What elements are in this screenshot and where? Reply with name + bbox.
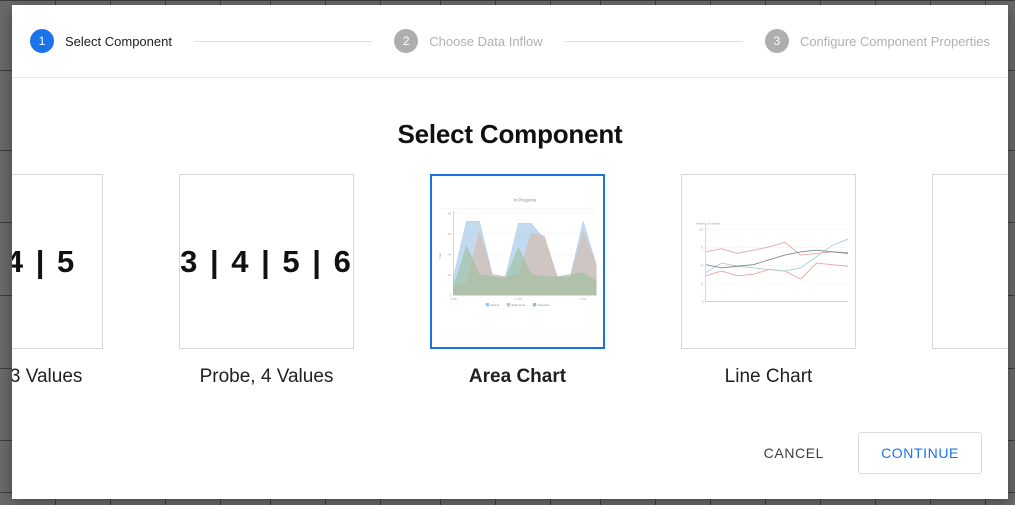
stepper-step-3[interactable]: 3 Configure Component Properties xyxy=(765,29,990,53)
probe-values-text: 3 | 4 | 5 xyxy=(12,175,102,348)
card-label: Probe, 4 Values xyxy=(179,366,354,388)
page-title: Select Component xyxy=(12,119,1008,150)
card-label: Probe, 3 Values xyxy=(12,366,103,388)
cancel-button[interactable]: CANCEL xyxy=(752,436,836,470)
wizard-stepper: 1 Select Component 2 Choose Data Inflow … xyxy=(12,5,1008,78)
stepper-step-2[interactable]: 2 Choose Data Inflow xyxy=(394,29,542,53)
component-card-next[interactable] xyxy=(932,174,1008,366)
component-carousel: 3 | 4 | 5 Probe, 3 Values 3 | 4 | 5 | 6 … xyxy=(12,174,1008,389)
svg-text:0: 0 xyxy=(450,294,452,297)
stepper-step-1[interactable]: 1 Select Component xyxy=(30,29,172,53)
component-card-probe-4-values[interactable]: 3 | 4 | 5 | 6 Probe, 4 Values xyxy=(179,174,354,388)
card-thumbnail[interactable]: Orders Completed0255075100 xyxy=(681,174,856,349)
svg-text:80: 80 xyxy=(448,212,451,215)
card-thumbnail[interactable] xyxy=(932,174,1008,349)
svg-text:Total: Total xyxy=(438,253,442,259)
step-1-number: 1 xyxy=(30,29,54,53)
step-3-number: 3 xyxy=(765,29,789,53)
card-thumbnail[interactable]: 3 | 4 | 5 | 6 xyxy=(179,174,354,349)
card-label: Area Chart xyxy=(430,366,605,388)
svg-text:20: 20 xyxy=(448,274,451,277)
probe-values-text: 3 | 4 | 5 | 6 xyxy=(180,175,353,348)
step-3-label: Configure Component Properties xyxy=(800,34,990,49)
card-thumbnail[interactable]: In Progress020406080Total17:0017:2517:50… xyxy=(430,174,605,349)
modal-body: Select Component 3 | 4 | 5 Probe, 3 Valu… xyxy=(12,78,1008,499)
svg-text:75: 75 xyxy=(701,247,704,250)
svg-text:Transfers: Transfers xyxy=(537,303,550,307)
component-card-probe-3-values[interactable]: 3 | 4 | 5 Probe, 3 Values xyxy=(12,174,103,388)
svg-text:17:00: 17:00 xyxy=(450,298,457,301)
modal-footer: CANCEL CONTINUE xyxy=(12,407,1008,499)
svg-text:60: 60 xyxy=(448,233,451,236)
stepper-connector-1 xyxy=(194,41,372,42)
card-label: Line Chart xyxy=(681,366,856,388)
svg-text:40: 40 xyxy=(448,253,451,256)
stepper-connector-2 xyxy=(565,41,743,42)
continue-button[interactable]: CONTINUE xyxy=(858,432,982,474)
svg-text:17:25: 17:25 xyxy=(515,298,522,301)
svg-text:Orders: Orders xyxy=(490,303,499,307)
step-2-label: Choose Data Inflow xyxy=(429,34,542,49)
svg-text:25: 25 xyxy=(701,283,704,286)
svg-text:In Progress: In Progress xyxy=(513,197,537,202)
area-chart-thumbnail-icon: In Progress020406080Total17:0017:2517:50… xyxy=(432,176,603,347)
carousel-track: 3 | 4 | 5 Probe, 3 Values 3 | 4 | 5 | 6 … xyxy=(12,174,1008,388)
card-thumbnail[interactable]: 3 | 4 | 5 xyxy=(12,174,103,349)
svg-text:Shipments: Shipments xyxy=(511,303,525,307)
svg-text:100: 100 xyxy=(699,229,704,232)
step-1-label: Select Component xyxy=(65,34,172,49)
svg-text:Orders Completed: Orders Completed xyxy=(696,221,720,225)
line-chart-thumbnail-icon: Orders Completed0255075100 xyxy=(682,175,855,348)
step-2-number: 2 xyxy=(394,29,418,53)
component-card-area-chart[interactable]: In Progress020406080Total17:0017:2517:50… xyxy=(430,174,605,388)
svg-text:0: 0 xyxy=(702,301,704,304)
component-card-line-chart[interactable]: Orders Completed0255075100 Line Chart xyxy=(681,174,856,388)
svg-text:50: 50 xyxy=(701,265,704,268)
svg-text:17:50: 17:50 xyxy=(580,298,587,301)
select-component-modal: 1 Select Component 2 Choose Data Inflow … xyxy=(12,5,1008,499)
